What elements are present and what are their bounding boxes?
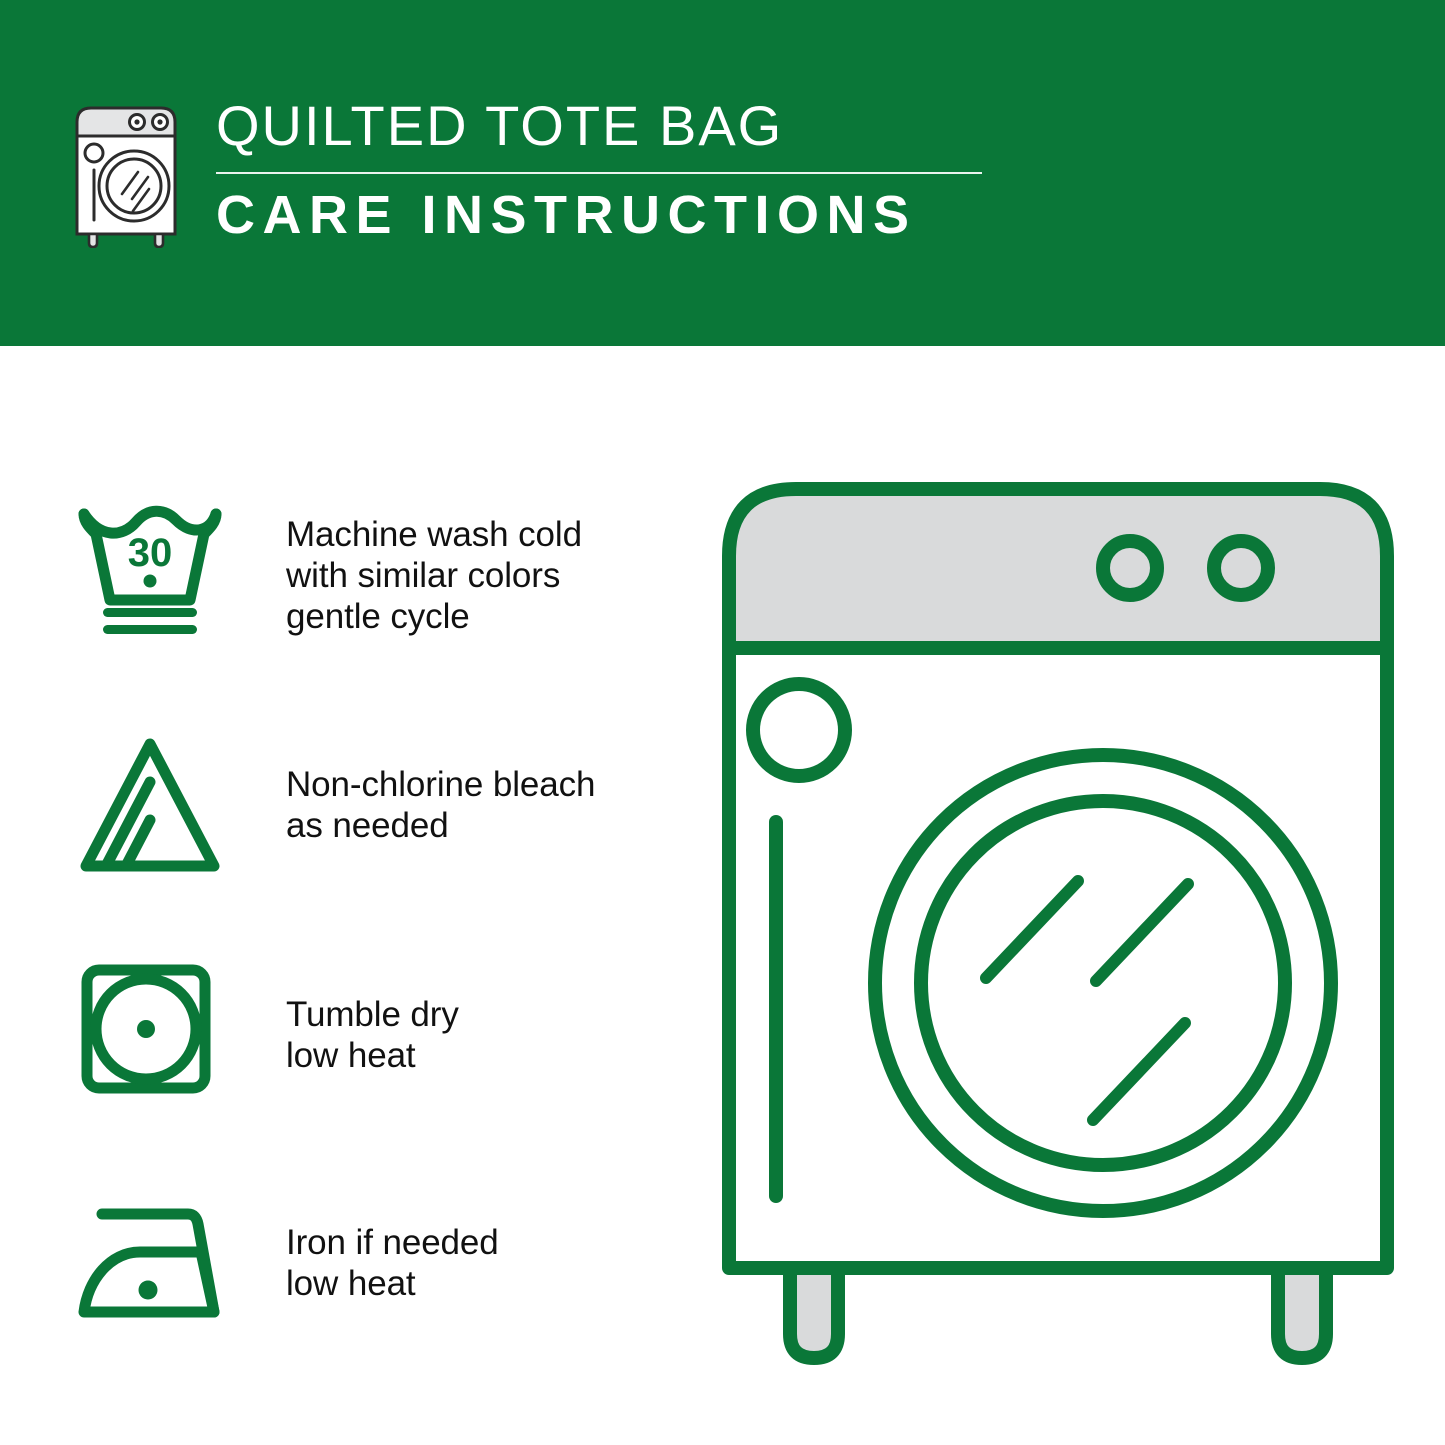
- care-label-line: gentle cycle: [286, 596, 690, 637]
- care-label-line: low heat: [286, 1263, 690, 1304]
- page-title: QUILTED TOTE BAG: [216, 96, 1388, 156]
- care-label-line: Tumble dry: [286, 994, 690, 1035]
- page-subtitle: CARE INSTRUCTIONS: [216, 186, 1388, 244]
- washing-machine-icon: [68, 98, 184, 248]
- care-label-line: Non-chlorine bleach: [286, 764, 690, 805]
- care-label-machine-wash: Machine wash cold with similar colors ge…: [286, 492, 690, 637]
- header-text-block: QUILTED TOTE BAG CARE INSTRUCTIONS: [216, 96, 1388, 244]
- tumble-dry-low-heat-icon: [70, 952, 230, 1114]
- care-label-line: Machine wash cold: [286, 514, 690, 555]
- care-label-line: with similar colors: [286, 555, 690, 596]
- care-label-tumble-dry: Tumble dry low heat: [286, 952, 690, 1076]
- wash-dot: [144, 575, 157, 588]
- iron-heat-dot: [139, 1281, 158, 1300]
- care-row-bleach: Non-chlorine bleach as needed: [70, 722, 690, 952]
- wash-temperature-label: 30: [128, 531, 173, 575]
- tumble-dry-heat-dot: [137, 1020, 155, 1038]
- care-instructions-list: 30 Machine wash cold with similar colors…: [70, 492, 690, 1412]
- care-label-line: Iron if needed: [286, 1222, 690, 1263]
- leg-left: [790, 1268, 838, 1358]
- title-divider: [216, 172, 982, 174]
- header-banner: QUILTED TOTE BAG CARE INSTRUCTIONS: [0, 0, 1445, 346]
- care-row-iron: Iron if needed low heat: [70, 1182, 690, 1412]
- care-instructions-page: QUILTED TOTE BAG CARE INSTRUCTIONS 30: [0, 0, 1445, 1445]
- care-label-iron: Iron if needed low heat: [286, 1182, 690, 1304]
- non-chlorine-bleach-triangle-icon: [70, 722, 230, 888]
- header-content: QUILTED TOTE BAG CARE INSTRUCTIONS: [68, 96, 1388, 266]
- care-label-bleach: Non-chlorine bleach as needed: [286, 722, 690, 846]
- control-panel: [729, 489, 1387, 648]
- iron-low-heat-icon: [70, 1182, 230, 1354]
- wash-tub-30-gentle-icon: 30: [70, 492, 230, 652]
- washing-machine-illustration: [718, 478, 1398, 1368]
- care-row-machine-wash: 30 Machine wash cold with similar colors…: [70, 492, 690, 722]
- care-label-line: low heat: [286, 1035, 690, 1076]
- leg-right: [1278, 1268, 1326, 1358]
- care-row-tumble-dry: Tumble dry low heat: [70, 952, 690, 1182]
- care-label-line: as needed: [286, 805, 690, 846]
